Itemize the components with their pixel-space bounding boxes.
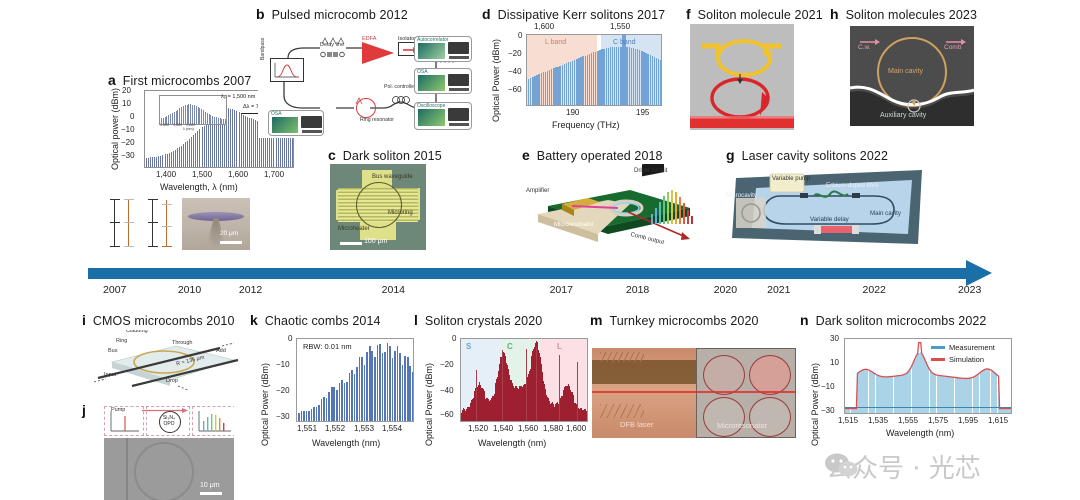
panel-h-heading: h Soliton molecules 2023 (830, 6, 977, 22)
panel-d-title: Dissipative Kerr solitons 2017 (498, 8, 666, 22)
panel-c-letter: c (328, 147, 336, 163)
bandpass-filter-box (270, 58, 304, 82)
cw-label: C.w. (858, 44, 871, 51)
ring-resonator-label: Ring resonator (360, 117, 394, 123)
legend-swatch-measurement (931, 346, 945, 349)
wechat-logo-icon (824, 452, 858, 483)
panel-c-heading: c Dark soliton 2015 (328, 147, 442, 163)
panel-l-letter: l (414, 312, 418, 328)
panel-b-heading: b Pulsed microcomb 2012 (256, 6, 408, 22)
legend-label-measurement: Measurement (949, 343, 995, 352)
timeline-arrow-head (966, 260, 992, 286)
panel-l-C-label: C (507, 342, 513, 351)
panel-f-heading: f Soliton molecule 2021 (686, 6, 823, 22)
panel-k-ylabel: Optical Power (dBm) (260, 363, 270, 446)
timeline-year-2012: 2012 (239, 284, 262, 296)
panel-n-ylabel: Optical Power (dBm) (810, 363, 820, 446)
panel-a-xlabel: Wavelength, λ (nm) (160, 182, 238, 192)
dfb-laser-label: DFB laser (620, 420, 653, 429)
panel-j-micrograph: 10 μm (104, 438, 234, 500)
opo-label: Si₃N₄ OPO (161, 415, 177, 427)
panel-a-title: First microcombs 2007 (123, 74, 252, 88)
legend-label-simulation: Simulation (949, 355, 984, 364)
microheater-label: Microheater (338, 226, 370, 232)
panel-b-title: Pulsed microcomb 2012 (272, 8, 408, 22)
panel-l-heading: l Soliton crystals 2020 (414, 312, 542, 328)
main-cavity-label-h: Main cavity (888, 68, 923, 75)
bandpass-label: Bandpass (260, 30, 266, 60)
panel-j-composite: Pump Si₃N₄ OPO 10 μm (104, 400, 234, 500)
timeline-year-2014: 2014 (382, 284, 405, 296)
auxiliary-cavity-label: Auxiliary cavity (880, 112, 926, 119)
panel-a-ylabel: Optical power (dBm) (110, 88, 120, 170)
instrument-osa-left-label: OSA (271, 111, 282, 117)
panel-j-pump-inset: Pump (104, 406, 144, 436)
panel-d-ylabel: Optical Power (dBm) (491, 39, 501, 122)
panel-l-ylabel: Optical Power (dBm) (424, 363, 434, 446)
dfb-laser-region: DFB laser (592, 348, 696, 438)
timeline-bar (88, 268, 968, 279)
panel-b-schematic: Bandpass Delay line EDFA Isolator Ring r… (258, 22, 476, 138)
comb-label: Comb (944, 44, 961, 51)
panel-d-plot-area: L band C band (526, 34, 662, 106)
panel-m-heading: m Turnkey microcombs 2020 (590, 312, 759, 328)
panel-n-chart: Optical Power (dBm) Measurement Simulati… (800, 334, 1022, 454)
input-label: Input (104, 372, 116, 378)
legend-swatch-simulation (931, 358, 945, 361)
laser-beam-line (592, 391, 796, 393)
through-label: Through (172, 340, 193, 346)
panel-a-annotation-pump: λₚ = 1,500 nm (221, 94, 255, 100)
panel-n-letter: n (800, 312, 809, 328)
instrument-oscilloscope-label: Oscilloscope (417, 103, 445, 109)
panel-g-schematic: Variable pump Erbium-doped fibre Microca… (722, 164, 928, 252)
microcavity-label: Microcavity (726, 192, 757, 199)
ring-label: Ring (116, 338, 127, 344)
panel-k-chart: Optical Power (dBm) RBW: 0.01 nm 0 −10 −… (250, 334, 420, 464)
panel-i-title: CMOS microcombs 2010 (93, 314, 235, 328)
bus-waveguide-label: Bus waveguide (372, 174, 413, 180)
microresonator-label: Microresonator (554, 222, 594, 228)
panel-h-letter: h (830, 6, 839, 22)
panel-i-heading: i CMOS microcombs 2010 (82, 312, 235, 328)
instrument-osa-right-label: OSA (417, 69, 428, 75)
panel-f-illustration (690, 24, 794, 130)
timeline-year-2021: 2021 (767, 284, 790, 296)
panel-b-letter: b (256, 6, 265, 22)
instrument-autocorrelator: Autocorrelator (414, 36, 472, 62)
edfa-amplifier-icon (362, 42, 394, 64)
panel-m-micrograph: DFB laser Microresonator (592, 348, 796, 438)
panel-k-rbw-annotation: RBW: 0.01 nm (303, 342, 352, 351)
energy-level-diagram-1 (108, 196, 142, 251)
erbium-fibre-label: Erbium-doped fibre (826, 182, 879, 189)
panel-k-xlabel: Wavelength (nm) (312, 438, 380, 448)
panel-f-title: Soliton molecule 2021 (698, 8, 823, 22)
microtoroid-scalebar (220, 241, 242, 244)
panel-h-illustration: C.w. Comb Main cavity Auxiliary cavity (850, 26, 974, 126)
drop-label: Drop (166, 378, 178, 384)
panel-l-xlabel: Wavelength (nm) (478, 438, 546, 448)
add-label: Add (216, 348, 226, 354)
timeline-year-2023: 2023 (958, 284, 981, 296)
panel-l-chart: Optical Power (dBm) S C L 0 −20 −40 −60 … (414, 334, 596, 464)
panel-n-heading: n Dark soliton microcombs 2022 (800, 312, 986, 328)
cladding-label: Cladding (126, 330, 148, 334)
panel-g-letter: g (726, 147, 735, 163)
timeline-axis: 2007201020122014201720182020202120222023 (88, 262, 1004, 302)
pol-controller-icon (392, 92, 410, 103)
panel-l-S-label: S (466, 342, 471, 351)
panel-c-title: Dark soliton 2015 (343, 149, 442, 163)
pol-controller-label: Pol. controller (384, 84, 416, 90)
instrument-osa-right: OSA (414, 68, 472, 94)
panel-j-letter: j (82, 402, 86, 418)
panel-i-letter: i (82, 312, 86, 328)
microresonator-label-m: Microresonator (717, 421, 767, 430)
panel-m-letter: m (590, 312, 602, 328)
panel-d-xlabel: Frequency (THz) (552, 120, 620, 130)
panel-d-heading: d Dissipative Kerr solitons 2017 (482, 6, 665, 22)
panel-g-title: Laser cavity solitons 2022 (742, 149, 888, 163)
panel-f-letter: f (686, 6, 691, 22)
panel-n-legend: Measurement Simulation (931, 343, 995, 364)
bus-label: Bus (108, 348, 117, 354)
microtoroid-scale-text: 20 μm (220, 230, 238, 237)
panel-a-letter: a (108, 72, 116, 88)
panel-e-letter: e (522, 147, 530, 163)
panel-j-heading: j (82, 402, 86, 418)
panel-e-heading: e Battery operated 2018 (522, 147, 663, 163)
panel-k-plot-area: RBW: 0.01 nm (296, 338, 414, 422)
timeline-year-2018: 2018 (626, 284, 649, 296)
timeline-year-2022: 2022 (863, 284, 886, 296)
instrument-autocorrelator-label: Autocorrelator (417, 37, 448, 43)
panel-j-arrow (142, 400, 190, 405)
driver-circuit-label: Driver circuit (634, 168, 667, 174)
instrument-osa-left: OSA (268, 110, 324, 136)
figure-canvas: a First microcombs 2007 Optical power (d… (0, 0, 1080, 500)
panel-e-title: Battery operated 2018 (537, 149, 663, 163)
panel-n-xlabel: Wavelength (nm) (886, 428, 954, 438)
panel-k-title: Chaotic combs 2014 (265, 314, 381, 328)
panel-i-schematic: Cladding Ring Bus Through Add Input Drop… (92, 330, 240, 398)
panel-g-heading: g Laser cavity solitons 2022 (726, 147, 888, 163)
variable-delay-label: Variable delay (810, 216, 849, 223)
panel-k-letter: k (250, 312, 258, 328)
variable-pump-label: Variable pump (772, 175, 810, 183)
panel-c-micrograph: Bus waveguide Microring Microheater 100 … (330, 164, 426, 250)
panel-l-title: Soliton crystals 2020 (425, 314, 542, 328)
timeline-year-2017: 2017 (550, 284, 573, 296)
panel-j-scalebar-text: 10 μm (200, 482, 220, 489)
timeline-year-2007: 2007 (103, 284, 126, 296)
ring-resonator-icon (356, 98, 376, 118)
panel-n-title: Dark soliton microcombs 2022 (816, 314, 987, 328)
panel-e-schematic: Driver circuit Amplifier Microresonator … (510, 164, 700, 254)
timeline-year-2010: 2010 (178, 284, 201, 296)
panel-d-L-band-label: L band (545, 39, 566, 46)
panel-n-plot-area: Measurement Simulation (844, 338, 1012, 414)
microring-label: Microring (388, 210, 413, 216)
comb-output-spectrum (650, 186, 696, 224)
microtoroid-micrograph: 20 μm (182, 198, 250, 250)
pump-label: Pump (111, 407, 125, 413)
energy-level-diagram-2 (146, 196, 180, 251)
panel-l-plot-area: S C L (460, 338, 588, 422)
panel-d-C-band-label: C band (613, 39, 636, 46)
panel-a-inset (159, 95, 227, 125)
delay-line-icon (320, 45, 346, 52)
amplifier-label: Amplifier (526, 188, 549, 194)
panel-d-chart: Optical Power (dBm) 1,600 1,550 L band C… (482, 22, 672, 137)
timeline-year-2020: 2020 (714, 284, 737, 296)
panel-k-heading: k Chaotic combs 2014 (250, 312, 381, 328)
panel-d-letter: d (482, 6, 491, 22)
microresonator-region: Microresonator (696, 348, 796, 438)
panel-l-L-label: L (557, 342, 562, 351)
panel-h-title: Soliton molecules 2023 (846, 8, 977, 22)
panel-c-scalebar-text: 100 μm (364, 238, 388, 245)
main-cavity-label-g: Main cavity (870, 210, 901, 217)
instrument-oscilloscope: Oscilloscope (414, 102, 472, 130)
panel-j-comb-inset (192, 406, 234, 436)
panel-a-inset-xlabel: λ (nm) (183, 127, 194, 131)
panel-m-title: Turnkey microcombs 2020 (609, 314, 758, 328)
